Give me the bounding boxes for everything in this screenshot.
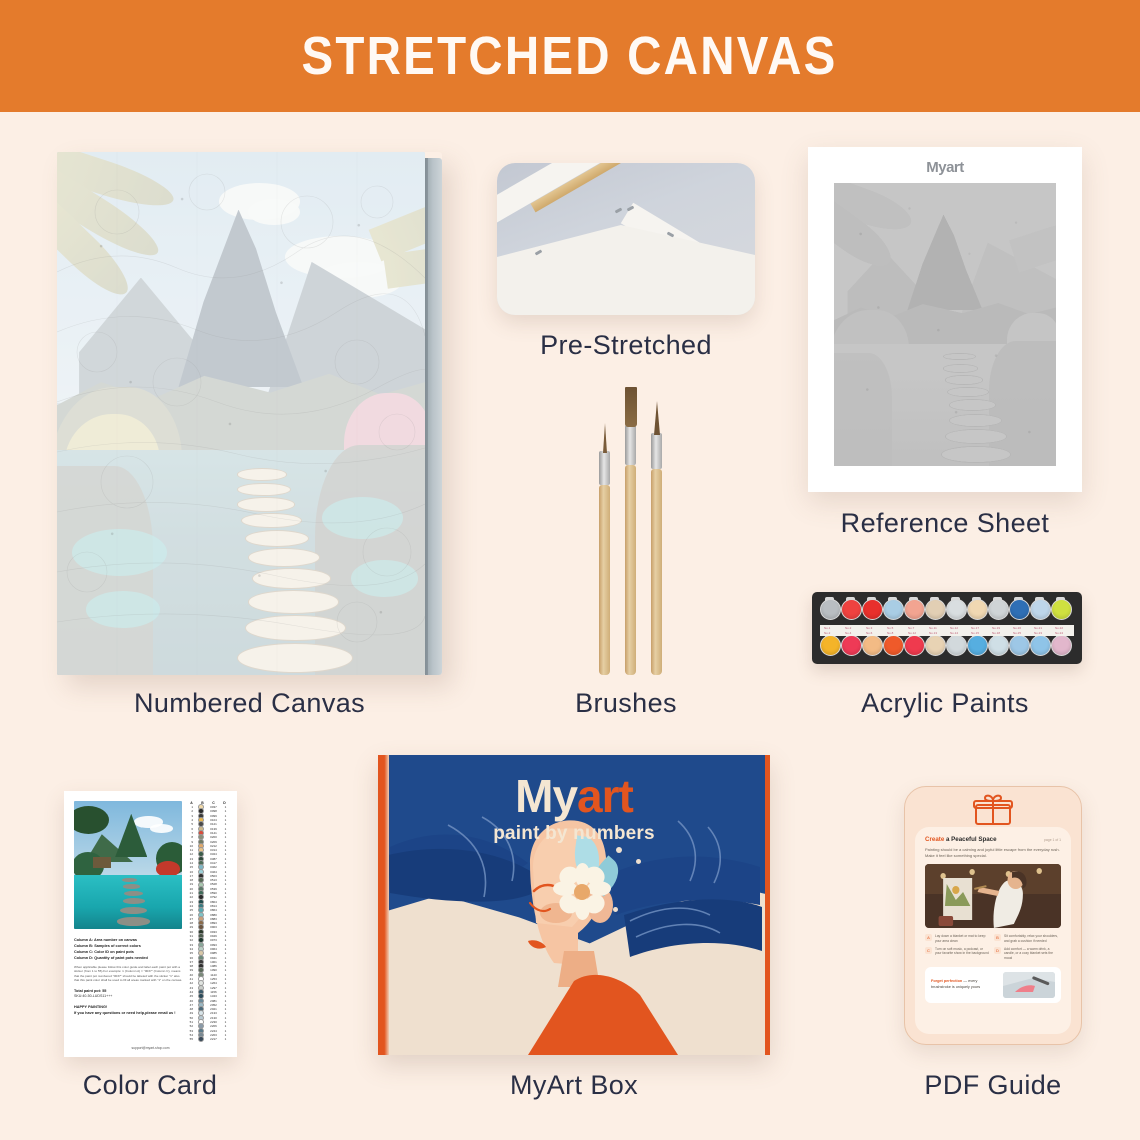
paint-pot-cap [862, 635, 883, 656]
paint-pot-cap [967, 599, 988, 620]
cell-color-id: 2217 [206, 1037, 221, 1041]
paint-pot [966, 633, 987, 659]
caption-numbered-canvas: Numbered Canvas [57, 688, 442, 719]
paint-pot-cap [841, 635, 862, 656]
paint-pot-cap [1030, 599, 1051, 620]
caption-acrylic-paints: Acrylic Paints [808, 688, 1082, 719]
paint-pot-cap [862, 599, 883, 620]
tip-icon: B [994, 934, 1001, 941]
staple-icon [615, 208, 623, 214]
pdf-tips-list: A Lay down a blanket or mat to keep your… [925, 934, 1061, 960]
pdf-heading-highlight: Create [925, 836, 944, 843]
brush-flat [625, 387, 636, 675]
paint-pot [1050, 597, 1071, 623]
paint-pot-label: No.20 [1013, 626, 1021, 630]
paint-pot-label: No.13 [929, 631, 937, 635]
paint-pot [966, 597, 987, 623]
reference-sheet-logo: Myart [808, 159, 1082, 176]
paint-pot-cap [967, 635, 988, 656]
canvas-side-edge [425, 158, 442, 675]
paint-pot-cap [883, 635, 904, 656]
paint-pot-cap [820, 635, 841, 656]
paint-pot [945, 597, 966, 623]
brushes-image [585, 385, 675, 675]
logo-my-text: My [515, 770, 577, 822]
cell-quantity: 1 [221, 1037, 230, 1041]
paint-pot-label: No.12 [908, 631, 916, 635]
paint-pot-label: No.12 [950, 626, 958, 630]
paint-pot-label: No.8 [887, 631, 893, 635]
paint-pot-label: No.25 [1013, 631, 1021, 635]
paint-pot-label: No.17 [971, 626, 979, 630]
paint-pot-label: No.5 [887, 626, 893, 630]
paint-pot-label: No.2 [824, 631, 830, 635]
tip-item: D Add comfort — a warm drink, a candle, … [994, 947, 1059, 961]
paint-pot-cap [820, 599, 841, 620]
paint-pot [819, 597, 840, 623]
paint-pot-cap [1051, 599, 1072, 620]
pdf-note: Forget perfection — every brushstroke is… [925, 967, 1061, 1003]
paint-label-strip: No.1No.2No.3No.5No.7No.11No.12No.17No.19… [820, 625, 1074, 636]
paint-pot [840, 633, 861, 659]
paint-pot-label: No.24 [1055, 631, 1063, 635]
myart-box-image: Myart paint by numbers [378, 755, 770, 1055]
paint-pot-cap [988, 599, 1009, 620]
cell-area-number: 55 [186, 1037, 195, 1041]
paint-pot-cap [988, 635, 1009, 656]
color-card-table: A B C D 10037120098130099140104150121160… [186, 801, 230, 1041]
color-card-artwork [74, 801, 182, 929]
sku-code: SKU:40-50-LUDS11+++ [74, 994, 184, 1000]
brush-pointed-round [651, 403, 662, 675]
paint-pot [819, 633, 840, 659]
brush-fine-round [599, 425, 610, 675]
paint-pot [987, 633, 1008, 659]
paint-pot [1008, 597, 1029, 623]
paint-pot-label: No.19 [992, 626, 1000, 630]
paint-pot-label: No.4 [845, 631, 851, 635]
box-logo: Myart [378, 769, 770, 823]
paint-pot-label: No.11 [929, 626, 937, 630]
pdf-guide-page: page 1 of 1 Create a Peaceful Space Pain… [915, 827, 1071, 1034]
legend-line: Column D: Quantity of paint pots needed [74, 955, 184, 961]
acrylic-paints-image: No.1No.2No.3No.5No.7No.11No.12No.17No.19… [812, 592, 1082, 664]
paint-pot [903, 633, 924, 659]
caption-pdf-guide: PDF Guide [890, 1070, 1096, 1101]
canvas-fold-left [497, 163, 641, 229]
caption-pre-stretched: Pre-Stretched [497, 330, 755, 361]
pdf-photo [925, 864, 1061, 928]
note-highlight: Forget perfection [931, 979, 962, 983]
caption-color-card: Color Card [50, 1070, 250, 1101]
pdf-intro-text: Painting should be a calming and joyful … [925, 847, 1061, 859]
canvas-face [57, 152, 425, 675]
pdf-guide-image: page 1 of 1 Create a Peaceful Space Pain… [904, 786, 1082, 1045]
pdf-heading-rest: a Peaceful Space [944, 836, 996, 843]
paint-pot-label: No.22 [1055, 626, 1063, 630]
daisy-flower-icon [555, 865, 609, 919]
paint-by-numbers-numbers [57, 152, 425, 675]
paint-pot [924, 597, 945, 623]
paint-pot-cap [1030, 635, 1051, 656]
tip-item: C Turn on soft music, a podcast, or your… [925, 947, 990, 961]
caption-myart-box: MyArt Box [378, 1070, 770, 1101]
numbered-canvas-image [57, 152, 442, 675]
caption-reference-sheet: Reference Sheet [808, 508, 1082, 539]
paint-row-bottom [819, 633, 1071, 659]
paint-pot-cap [904, 635, 925, 656]
color-card-note: When applicable please follow this color… [74, 965, 184, 984]
paint-pot [882, 597, 903, 623]
table-row: 5522171 [186, 1037, 230, 1041]
box-tagline: paint by numbers [378, 823, 770, 845]
paint-pot-label: No.21 [1034, 626, 1042, 630]
paint-pot-label: No.14 [950, 631, 958, 635]
paint-pot [987, 597, 1008, 623]
support-email: support@myart-shop.com [64, 1046, 237, 1050]
paint-pot-cap [946, 599, 967, 620]
paint-pot-cap [1051, 635, 1072, 656]
tip-icon: C [925, 947, 932, 954]
paint-pot-label: No.2 [845, 626, 851, 630]
canvas-back-surface [497, 225, 755, 315]
paint-pot-label: No.7 [908, 626, 914, 630]
paint-pot-label: No.18 [992, 631, 1000, 635]
paint-pot [840, 597, 861, 623]
tip-item: B Sit comfortably, relax your shoulders,… [994, 934, 1059, 943]
paint-pot [903, 597, 924, 623]
gift-icon [973, 793, 1013, 825]
paint-pot [861, 633, 882, 659]
pdf-page-number: page 1 of 1 [1044, 838, 1061, 842]
box-left-edge [378, 755, 389, 1055]
paint-pot [882, 633, 903, 659]
logo-art-text: art [577, 770, 633, 822]
page-header: STRETCHED CANVAS [0, 0, 1140, 112]
reference-sheet-artwork [834, 183, 1056, 466]
paint-pot-cap [883, 599, 904, 620]
paint-pot-cap [925, 635, 946, 656]
paint-row-top [819, 597, 1071, 623]
note-thumbnail [1003, 972, 1055, 998]
tip-text: Lay down a blanket or mat to keep your a… [935, 934, 990, 943]
paint-pot [1050, 633, 1071, 659]
pre-stretched-image [497, 163, 755, 315]
paint-pot-cap [925, 599, 946, 620]
color-card-image: Column A: Area number on canvas Column B… [64, 791, 237, 1057]
paint-pot [1029, 633, 1050, 659]
paint-pot-cap [1009, 599, 1030, 620]
tip-text: Add comfort — a warm drink, a candle, or… [1004, 947, 1059, 961]
paint-pot-label: No.6 [866, 631, 872, 635]
box-right-edge [765, 755, 770, 1055]
paint-pot [924, 633, 945, 659]
reference-sheet-image: Myart [808, 147, 1082, 492]
paint-pot-label: No.3 [866, 626, 872, 630]
paint-pot-cap [841, 599, 862, 620]
sparkle-dot [636, 859, 641, 864]
paint-pot-cap [946, 635, 967, 656]
tip-text: Sit comfortably, relax your shoulders, a… [1004, 934, 1059, 943]
tip-text: Turn on soft music, a podcast, or your f… [935, 947, 990, 961]
sparkle-dot [613, 907, 618, 912]
caption-brushes: Brushes [497, 688, 755, 719]
page-title: STRETCHED CANVAS [302, 25, 838, 87]
tip-item: A Lay down a blanket or mat to keep your… [925, 934, 990, 943]
paint-pot [945, 633, 966, 659]
tip-icon: A [925, 934, 932, 941]
tip-icon: D [994, 947, 1001, 954]
paint-pot [861, 597, 882, 623]
note-text: Forget perfection — every brushstroke is… [931, 979, 998, 990]
paint-pot [1029, 597, 1050, 623]
paint-pot-label: No.15 [971, 631, 979, 635]
color-card-legend: Column A: Area number on canvas Column B… [74, 937, 184, 1016]
paint-pot-label: No.1 [824, 626, 830, 630]
help-text: If you have any questions or need help,p… [74, 1010, 184, 1016]
paint-pot-cap [904, 599, 925, 620]
cell-color-swatch [195, 1036, 206, 1042]
pdf-heading: Create a Peaceful Space [925, 836, 1061, 843]
paint-pot-cap [1009, 635, 1030, 656]
paint-pot-label: No.23 [1034, 631, 1042, 635]
sparkle-dot [616, 847, 622, 853]
paint-pot [1008, 633, 1029, 659]
